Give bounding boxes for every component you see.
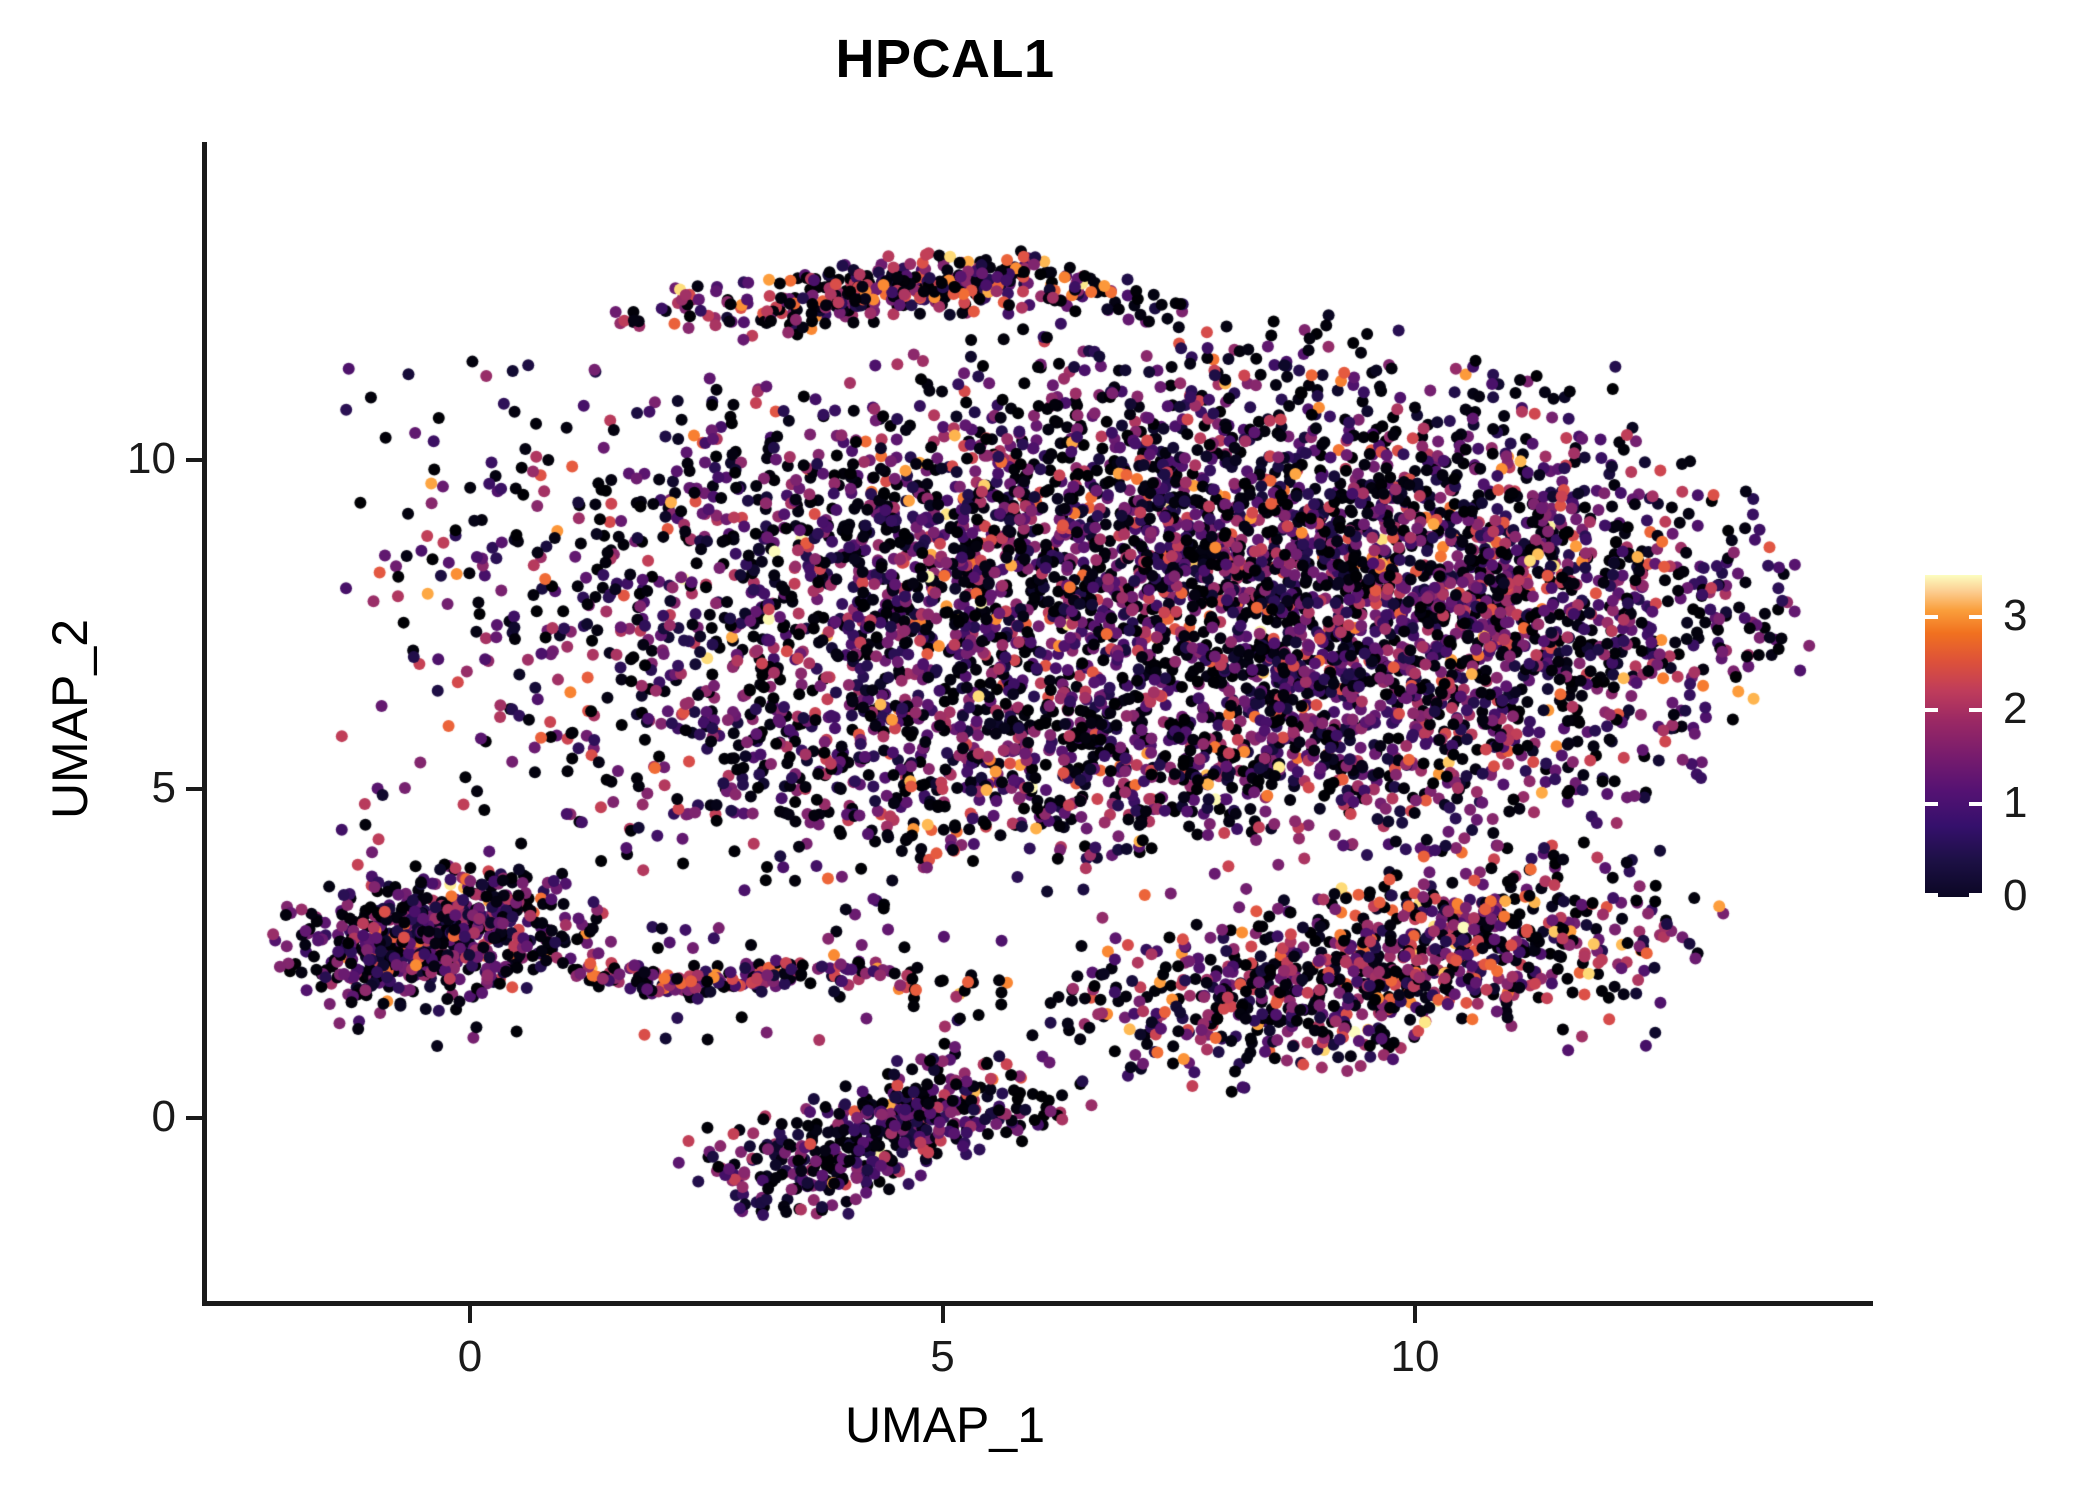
colorbar-legend: 0123 (1925, 575, 2095, 905)
x-tick (1413, 1306, 1417, 1323)
y-tick (186, 1116, 202, 1120)
x-tick (941, 1306, 945, 1323)
colorbar-tick (1925, 708, 1938, 712)
y-axis-label: UMAP_2 (41, 119, 99, 1319)
x-tick-label: 5 (853, 1332, 1033, 1382)
colorbar-tick-label: 3 (2003, 591, 2027, 641)
colorbar-tick (1969, 708, 1982, 712)
colorbar-tick-label: 1 (2003, 778, 2027, 828)
y-tick (186, 458, 202, 462)
x-tick-label: 10 (1325, 1332, 1505, 1382)
scatter-plot-area (206, 142, 1873, 1303)
colorbar-tick (1969, 802, 1982, 806)
x-tick-label: 0 (380, 1332, 560, 1382)
x-tick (468, 1306, 472, 1323)
y-tick (186, 787, 202, 791)
colorbar-tick (1925, 615, 1938, 619)
colorbar-tick (1925, 802, 1938, 806)
colorbar-tick-label: 0 (2003, 871, 2027, 921)
page-title: HPCAL1 (0, 28, 1890, 90)
colorbar-tick (1925, 893, 1938, 897)
x-axis-label: UMAP_1 (0, 1396, 1890, 1454)
scatter-canvas (206, 142, 1873, 1303)
colorbar-tick (1969, 893, 1982, 897)
colorbar-gradient (1925, 575, 1982, 897)
colorbar-tick (1969, 615, 1982, 619)
colorbar-tick-label: 2 (2003, 684, 2027, 734)
umap-feature-plot: HPCAL1 0510 0510 UMAP_1 UMAP_2 0123 (0, 0, 2100, 1500)
